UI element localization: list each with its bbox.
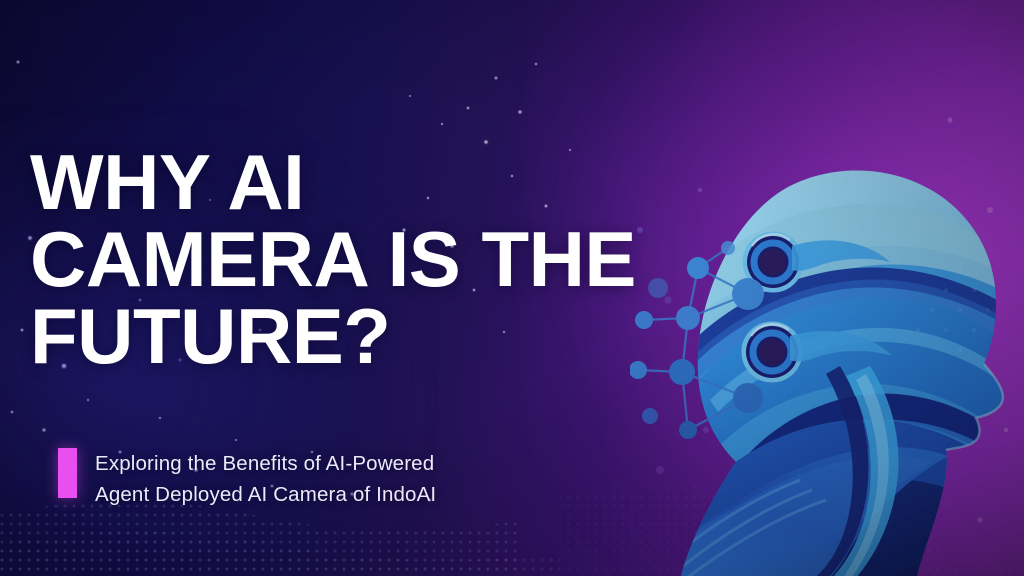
page-title: WHY AI CAMERA IS THE FUTURE? (30, 144, 770, 374)
headline-line-3: FUTURE? (30, 298, 770, 375)
headline-line-2: CAMERA IS THE (30, 221, 770, 298)
subtitle: Exploring the Benefits of AI-Powered Age… (95, 448, 436, 510)
headline-line-1: WHY AI (30, 144, 770, 221)
accent-bar (58, 448, 77, 498)
subtitle-block: Exploring the Benefits of AI-Powered Age… (58, 448, 436, 510)
title-slide: WHY AI CAMERA IS THE FUTURE? Exploring t… (0, 0, 1024, 576)
subtitle-line-1: Exploring the Benefits of AI-Powered (95, 448, 436, 479)
subtitle-line-2: Agent Deployed AI Camera of IndoAI (95, 479, 436, 510)
